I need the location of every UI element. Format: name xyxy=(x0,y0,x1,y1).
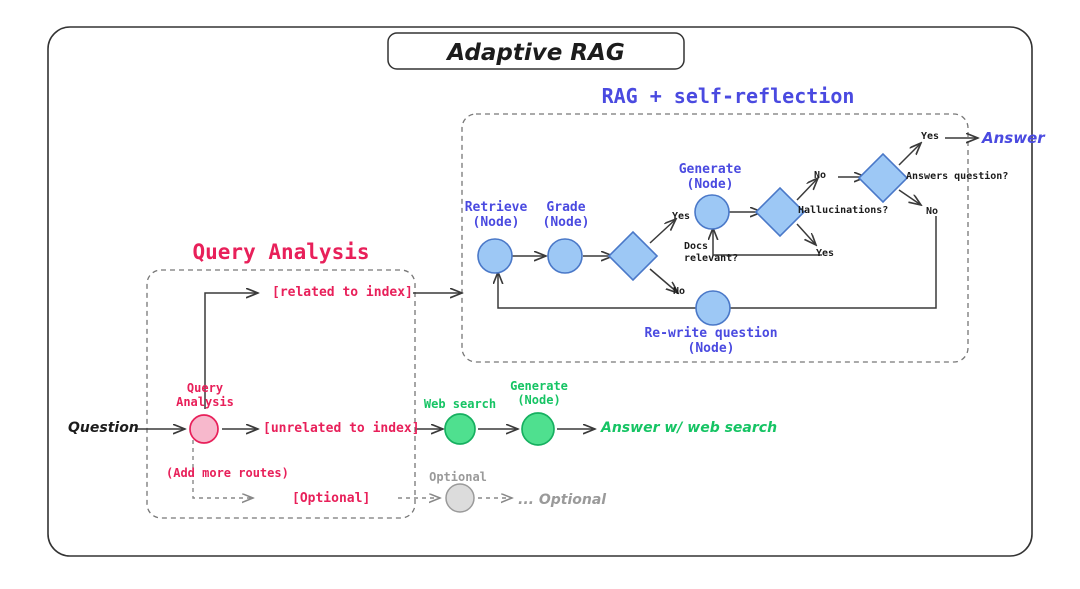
route-optional: [Optional] xyxy=(292,491,370,506)
query-analysis-heading: Query Analysis xyxy=(192,240,369,265)
decision-docs-relevant-label: Docs relevant? xyxy=(684,241,738,265)
node-query-analysis[interactable] xyxy=(190,415,218,443)
edge-label-answers-no: No xyxy=(926,206,938,218)
web-branch-output: Answer w/ web search xyxy=(601,420,777,437)
edge-label-answers-yes: Yes xyxy=(921,131,939,143)
edge-label-halluc-no: No xyxy=(814,170,826,182)
node-web-search[interactable] xyxy=(445,414,475,444)
rag-output-answer: Answer xyxy=(982,130,1045,148)
edge-label-docs-yes: Yes xyxy=(672,211,690,223)
node-optional-label: Optional xyxy=(429,470,487,484)
node-generate-web[interactable] xyxy=(522,413,554,445)
decision-answers-question-label: Answers question? xyxy=(906,171,1008,183)
edge-label-halluc-yes: Yes xyxy=(816,248,834,260)
node-grade[interactable] xyxy=(548,239,582,273)
node-web-search-label: Web search xyxy=(424,397,496,411)
add-more-routes-note: (Add more routes) xyxy=(166,466,289,480)
node-retrieve-label: Retrieve (Node) xyxy=(465,200,528,231)
optional-branch-output: ... Optional xyxy=(518,492,606,509)
node-rewrite-question-label: Re-write question (Node) xyxy=(644,326,777,357)
node-retrieve[interactable] xyxy=(478,239,512,273)
node-optional[interactable] xyxy=(446,484,474,512)
edge-label-docs-no: No xyxy=(673,286,685,298)
rag-section-heading: RAG + self-reflection xyxy=(602,85,855,109)
node-query-analysis-label: Query Analysis xyxy=(176,381,234,409)
node-generate-web-label: Generate (Node) xyxy=(510,379,568,407)
page-title: Adaptive RAG xyxy=(447,40,624,67)
node-grade-label: Grade (Node) xyxy=(543,200,590,231)
node-rewrite-question[interactable] xyxy=(696,291,730,325)
input-question-label: Question xyxy=(68,420,139,437)
node-generate[interactable] xyxy=(695,195,729,229)
route-unrelated-to-index: [unrelated to index] xyxy=(263,421,420,436)
decision-hallucinations-label: Hallucinations? xyxy=(798,205,888,217)
route-related-to-index: [related to index] xyxy=(272,285,413,300)
node-generate-label: Generate (Node) xyxy=(679,162,742,193)
